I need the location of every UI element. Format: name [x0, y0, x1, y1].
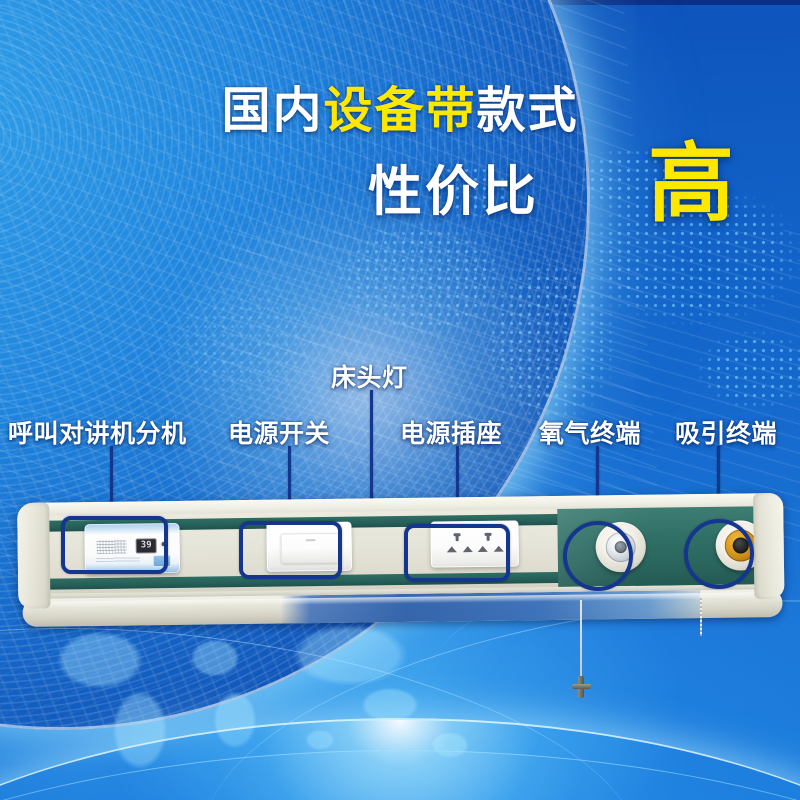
- cord-handle-horizontal[interactable]: [572, 684, 591, 689]
- callout-label-oxygen: 氧气终端: [539, 414, 641, 450]
- headline-seg-style: 款式: [477, 82, 579, 139]
- promo-banner: 国内设备带款式 性价比 高 呼叫对讲机分机 电源开关 床头灯 电源插座 氧气终端…: [0, 0, 800, 800]
- callout-label-power-switch: 电源开关: [228, 414, 330, 450]
- callout-label-bed-lamp: 床头灯: [331, 358, 408, 394]
- panel-endcap-right: [753, 493, 784, 599]
- headline-seg-equipment-belt: 设备带: [323, 82, 476, 139]
- headline-seg-domestic: 国内: [221, 82, 323, 139]
- pull-cord[interactable]: [580, 600, 582, 688]
- headline-accent-high: 高: [648, 141, 734, 227]
- halftone-dots-secondary: [120, 250, 380, 430]
- highlight-circle-oxygen: [563, 521, 633, 591]
- highlight-box-power-socket: [404, 524, 510, 582]
- panel-endcap-left: [17, 503, 50, 609]
- highlight-circle-suction: [684, 519, 754, 589]
- headline-value-ratio: 性价比: [368, 165, 539, 219]
- callout-label-suction: 吸引终端: [675, 414, 777, 450]
- headline-line-1: 国内设备带款式: [0, 86, 800, 135]
- highlight-box-intercom: [61, 516, 168, 574]
- highlight-box-power-switch: [239, 521, 342, 579]
- callout-label-power-socket: 电源插座: [400, 414, 502, 450]
- callout-label-intercom: 呼叫对讲机分机: [8, 414, 187, 450]
- pull-cord-secondary[interactable]: [700, 596, 702, 636]
